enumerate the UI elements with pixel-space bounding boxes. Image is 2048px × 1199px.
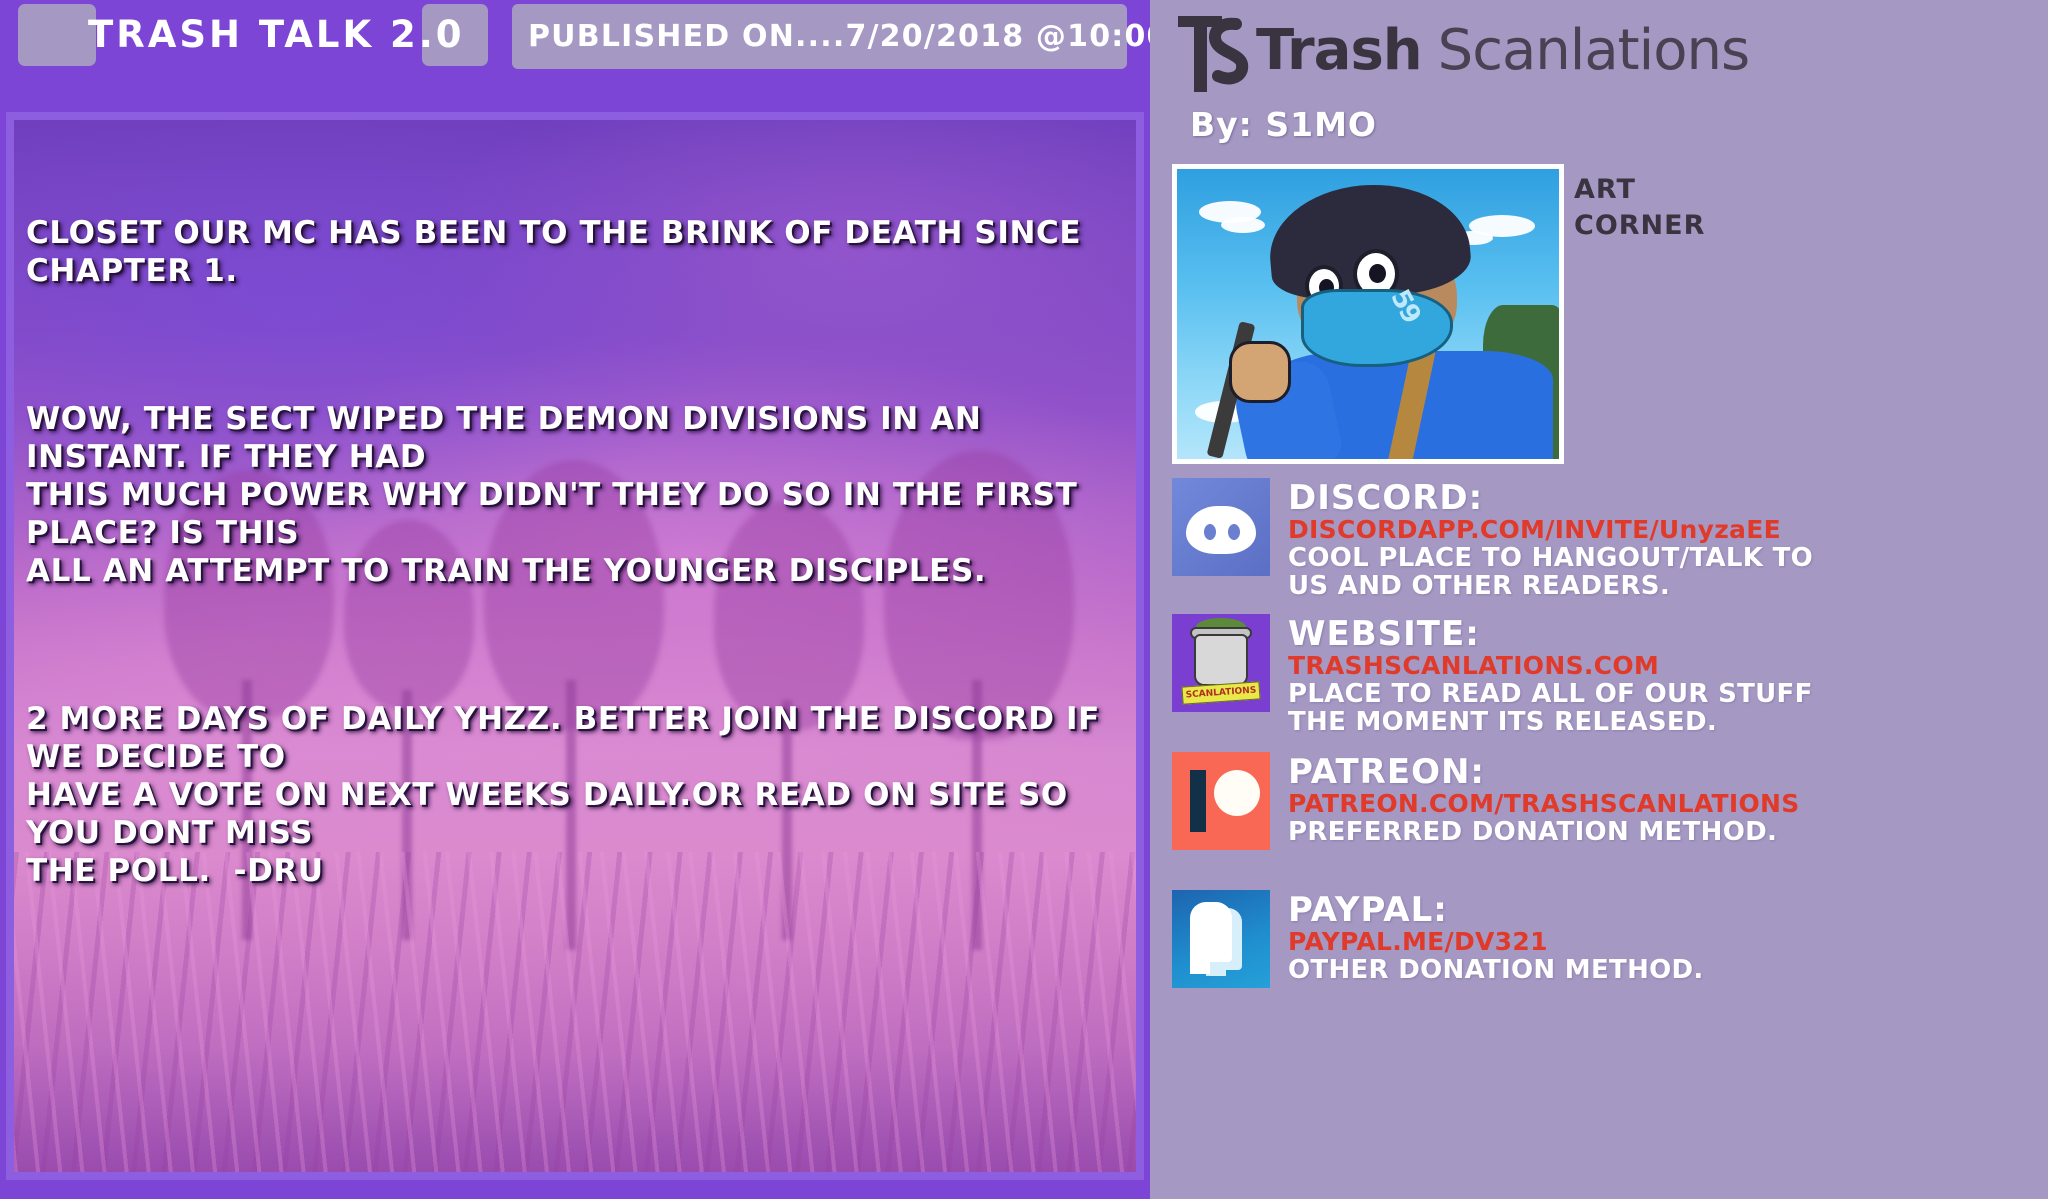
- body-paragraph-1: CLOSET OUR MC HAS BEEN TO THE BRINK OF D…: [26, 214, 1136, 290]
- link-row-website[interactable]: SCANLATIONS WEBSITE: TRASHSCANLATIONS.CO…: [1172, 614, 2048, 736]
- patreon-title: PATREON:: [1288, 754, 2048, 790]
- link-row-discord[interactable]: DISCORD: DISCORDAPP.COM/INVITE/UnyzaEE C…: [1172, 478, 2048, 600]
- body-paragraph-3: 2 MORE DAYS OF DAILY YHZZ. BETTER JOIN T…: [26, 700, 1136, 890]
- patreon-icon[interactable]: [1172, 752, 1270, 850]
- author-byline: By: S1MO: [1190, 105, 1377, 144]
- page-title: TRASH TALK 2.0: [88, 6, 428, 64]
- website-url[interactable]: TRASHSCANLATIONS.COM: [1288, 652, 2048, 680]
- sky-background: CLOSET OUR MC HAS BEEN TO THE BRINK OF D…: [14, 120, 1136, 1172]
- discord-face-shape: [1186, 506, 1256, 554]
- art-corner-image: 59: [1177, 169, 1559, 459]
- patreon-circle: [1214, 770, 1260, 816]
- paypal-description: OTHER DONATION METHOD.: [1288, 956, 2048, 984]
- link-row-paypal[interactable]: PAYPAL: PAYPAL.ME/DV321 OTHER DONATION M…: [1172, 890, 2048, 988]
- art-corner-frame: 59: [1172, 164, 1564, 464]
- website-text-block: WEBSITE: TRASHSCANLATIONS.COM PLACE TO R…: [1288, 614, 2048, 736]
- trash-bin-icon[interactable]: SCANLATIONS: [1172, 614, 1270, 712]
- website-title: WEBSITE:: [1288, 616, 2048, 652]
- paypal-icon[interactable]: [1172, 890, 1270, 988]
- paypal-front-stem: [1190, 942, 1210, 974]
- patreon-url[interactable]: PATREON.COM/TRASHSCANLATIONS: [1288, 790, 2048, 818]
- trash-talk-release-page: TRASH TALK 2.0 PUBLISHED ON....7/20/2018…: [0, 0, 2048, 1199]
- bin-banner-label: SCANLATIONS: [1181, 681, 1260, 704]
- link-row-patreon[interactable]: PATREON: PATREON.COM/TRASHSCANLATIONS PR…: [1172, 752, 2048, 850]
- paypal-title: PAYPAL:: [1288, 892, 2048, 928]
- discord-eye: [1204, 524, 1216, 540]
- patreon-text-block: PATREON: PATREON.COM/TRASHSCANLATIONS PR…: [1288, 752, 2048, 846]
- paypal-text-block: PAYPAL: PAYPAL.ME/DV321 OTHER DONATION M…: [1288, 890, 2048, 984]
- body-text-block: CLOSET OUR MC HAS BEEN TO THE BRINK OF D…: [26, 138, 1136, 1172]
- header-inner: TRASH TALK 2.0 PUBLISHED ON....7/20/2018…: [0, 0, 1127, 70]
- character-pupil: [1369, 264, 1386, 283]
- ts-monogram-logo-icon: [1176, 4, 1260, 96]
- discord-description: COOL PLACE TO HANGOUT/TALK TO US AND OTH…: [1288, 544, 2048, 600]
- patreon-description: PREFERRED DONATION METHOD.: [1288, 818, 2048, 846]
- discord-text-block: DISCORD: DISCORDAPP.COM/INVITE/UnyzaEE C…: [1288, 478, 2048, 600]
- content-frame: CLOSET OUR MC HAS BEEN TO THE BRINK OF D…: [6, 112, 1144, 1180]
- body-spacer: [26, 966, 1136, 1116]
- paypal-url[interactable]: PAYPAL.ME/DV321: [1288, 928, 2048, 956]
- title-chip-left: [18, 4, 96, 66]
- art-corner-label: ART CORNER: [1574, 172, 1618, 244]
- brand-name-light: Scanlations: [1438, 18, 1749, 83]
- sidebar: Trash Scanlations By: S1MO: [1150, 0, 2048, 1199]
- discord-eye: [1228, 524, 1240, 540]
- main-panel: TRASH TALK 2.0 PUBLISHED ON....7/20/2018…: [0, 0, 1150, 1199]
- brand-name-bold: Trash: [1256, 18, 1422, 83]
- published-box: PUBLISHED ON....7/20/2018 @10:00AM EST.: [512, 4, 1127, 69]
- cloud-shape: [1221, 217, 1265, 233]
- discord-url[interactable]: DISCORDAPP.COM/INVITE/UnyzaEE: [1288, 516, 2048, 544]
- patreon-bar: [1190, 770, 1206, 832]
- discord-title: DISCORD:: [1288, 480, 2048, 516]
- header-bar: TRASH TALK 2.0 PUBLISHED ON....7/20/2018…: [0, 0, 1150, 78]
- body-paragraph-2: WOW, THE SECT WIPED THE DEMON DIVISIONS …: [26, 400, 1136, 590]
- bin-body: [1194, 634, 1248, 686]
- character-hand: [1229, 341, 1291, 403]
- brand-header: Trash Scanlations: [1176, 4, 1749, 96]
- discord-icon[interactable]: [1172, 478, 1270, 576]
- website-description: PLACE TO READ ALL OF OUR STUFF THE MOMEN…: [1288, 680, 2048, 736]
